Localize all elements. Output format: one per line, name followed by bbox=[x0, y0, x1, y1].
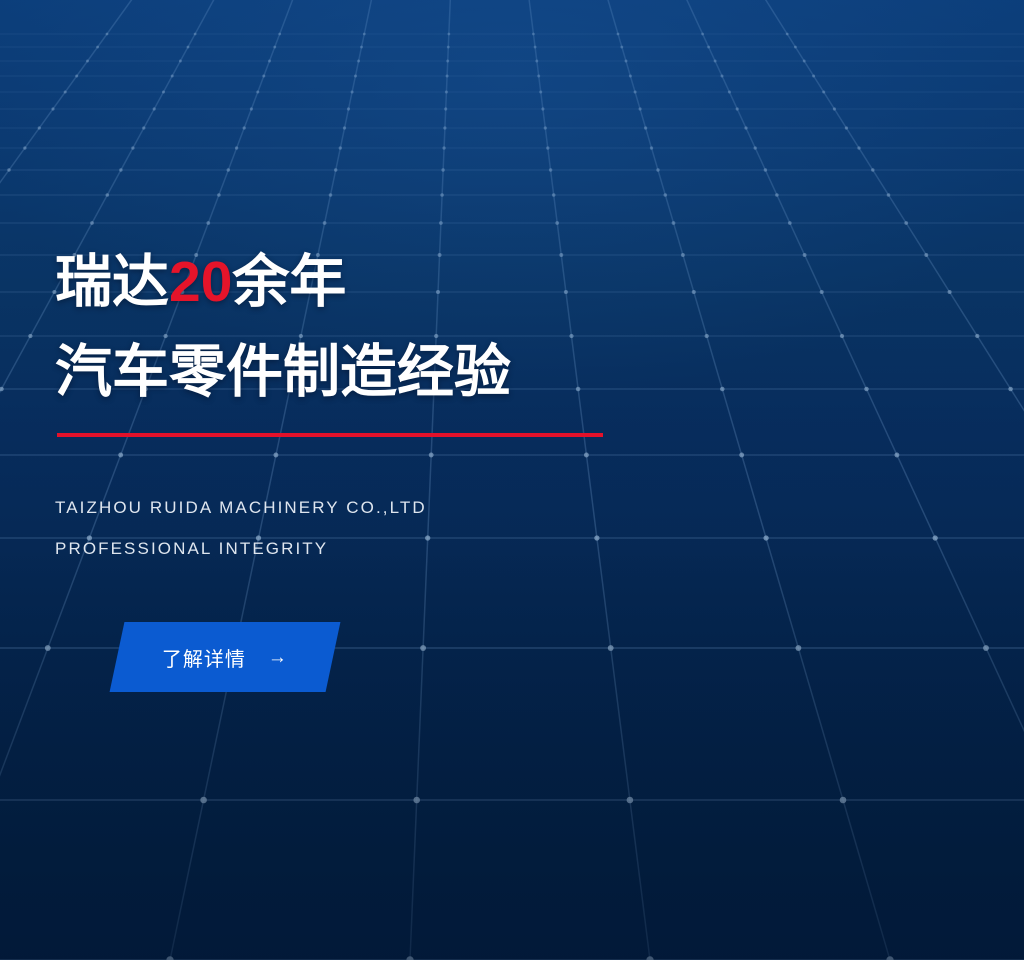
background-vignette bbox=[0, 0, 1024, 960]
hero-subtitle: TAIZHOU RUIDA MACHINERY CO.,LTD PROFESSI… bbox=[55, 487, 427, 569]
learn-more-button-inner: 了解详情 → bbox=[162, 643, 288, 672]
arrow-right-icon: → bbox=[268, 648, 288, 667]
perspective-grid-backdrop bbox=[0, 0, 1024, 960]
headline-line-1: 瑞达20余年 bbox=[55, 250, 346, 314]
subtitle-line-2: PROFESSIONAL INTEGRITY bbox=[55, 528, 427, 569]
headline-suffix: 余年 bbox=[232, 250, 346, 314]
subtitle-line-1: TAIZHOU RUIDA MACHINERY CO.,LTD bbox=[55, 487, 427, 528]
learn-more-button[interactable]: 了解详情 → bbox=[110, 622, 341, 692]
red-rule-divider bbox=[57, 433, 603, 437]
headline-accent-number: 20 bbox=[169, 250, 232, 314]
headline-line-2: 汽车零件制造经验 bbox=[55, 342, 511, 402]
headline-prefix: 瑞达 bbox=[55, 250, 169, 314]
hero-banner: 瑞达20余年 汽车零件制造经验 TAIZHOU RUIDA MACHINERY … bbox=[0, 0, 1024, 960]
page-title: 瑞达20余年 汽车零件制造经验 bbox=[55, 252, 511, 402]
learn-more-button-label: 了解详情 bbox=[162, 643, 246, 672]
